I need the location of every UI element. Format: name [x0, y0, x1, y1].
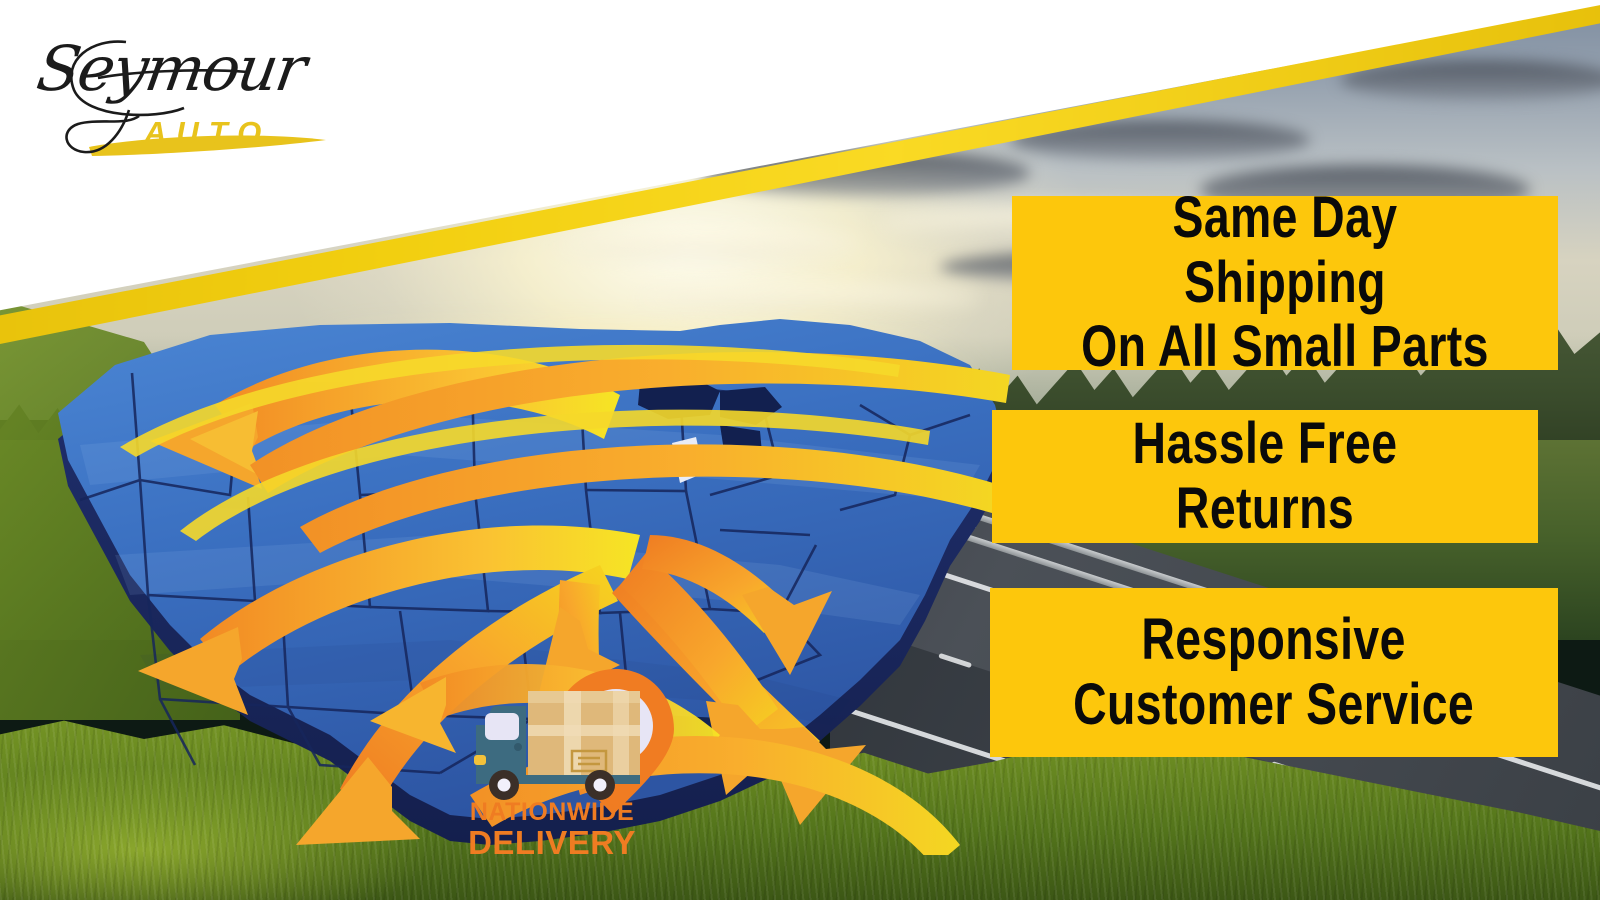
promo-banner: NATIONWIDE DELIVERY Seymour AUTO Same Da…: [0, 0, 1600, 900]
logo-subtext: AUTO: [144, 115, 271, 151]
us-map-graphic: NATIONWIDE DELIVERY: [20, 295, 1030, 865]
feature-text: Responsive Customer Service: [1073, 608, 1474, 738]
truck-cab: [474, 706, 526, 777]
feature-box-responsive-customer-service[interactable]: Responsive Customer Service: [990, 588, 1558, 757]
nationwide-delivery-caption: NATIONWIDE DELIVERY: [452, 800, 652, 859]
logo-wordmark: Seymour: [32, 32, 309, 105]
seymour-auto-logo[interactable]: Seymour AUTO: [34, 20, 334, 170]
feature-box-hassle-free-returns[interactable]: Hassle Free Returns: [992, 410, 1538, 543]
cargo-box: [528, 691, 640, 777]
feature-box-same-day-shipping[interactable]: Same Day Shipping On All Small Parts: [1012, 196, 1558, 370]
caption-line-delivery: DELIVERY: [452, 826, 652, 860]
cloud: [560, 230, 860, 260]
caption-line-nationwide: NATIONWIDE: [452, 800, 652, 826]
feature-text: Hassle Free Returns: [1047, 412, 1484, 542]
feature-text: Same Day Shipping On All Small Parts: [1067, 186, 1504, 381]
